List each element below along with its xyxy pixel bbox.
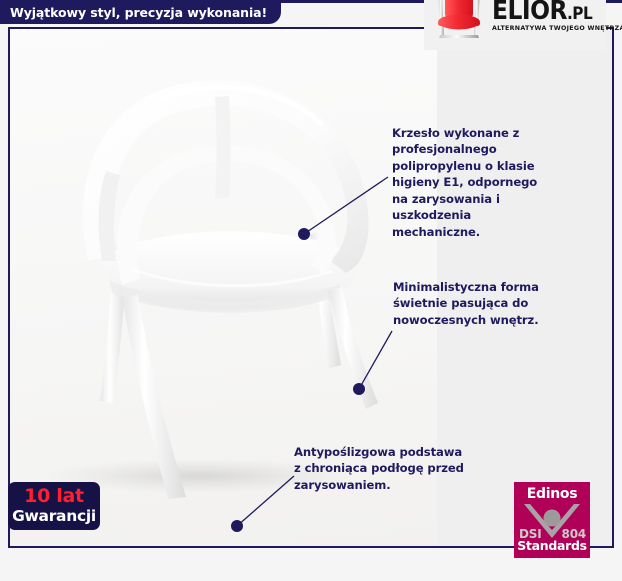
certification-badge: Edinos DSI 804 Standards (514, 482, 590, 558)
headline-text: Wyjątkowy styl, precyzja wykonania! (10, 5, 267, 20)
callout-dot-material (298, 228, 310, 240)
logo-tagline: ALTERNATYWA TWOJEGO WNĘTRZA (492, 26, 622, 32)
certification-brand: Edinos (514, 486, 590, 502)
callout-dot-design (353, 383, 365, 395)
warranty-years: 10 lat (24, 487, 84, 506)
callout-dot-base (231, 520, 243, 532)
content-frame: Krzesło wykonane z profesjonalnego polip… (8, 27, 614, 548)
callout-design-text: Minimalistyczna forma świetnie pasująca … (393, 279, 556, 328)
callout-base-text: Antypoślizgowa podstawa z chroniąca podł… (294, 444, 472, 493)
logo-name-row: ELIOR.PL (492, 0, 622, 24)
logo-domain: .PL (567, 6, 592, 23)
warranty-badge: 10 lat Gwarancji (8, 482, 100, 530)
certification-label: Standards (514, 538, 590, 553)
headline-banner: Wyjątkowy styl, precyzja wykonania! (0, 0, 281, 24)
callout-material-text: Krzesło wykonane z profesjonalnego polip… (392, 125, 550, 240)
logo-name: ELIOR (492, 0, 567, 24)
infographic-page: Wyjątkowy styl, precyzja wykonania! (0, 0, 622, 581)
warranty-label: Gwarancji (12, 509, 96, 525)
logo-wordmark: ELIOR.PL ALTERNATYWA TWOJEGO WNĘTRZA (492, 0, 622, 32)
brand-logo: ELIOR.PL ALTERNATYWA TWOJEGO WNĘTRZA (424, 0, 606, 50)
red-chair-icon (430, 0, 488, 45)
